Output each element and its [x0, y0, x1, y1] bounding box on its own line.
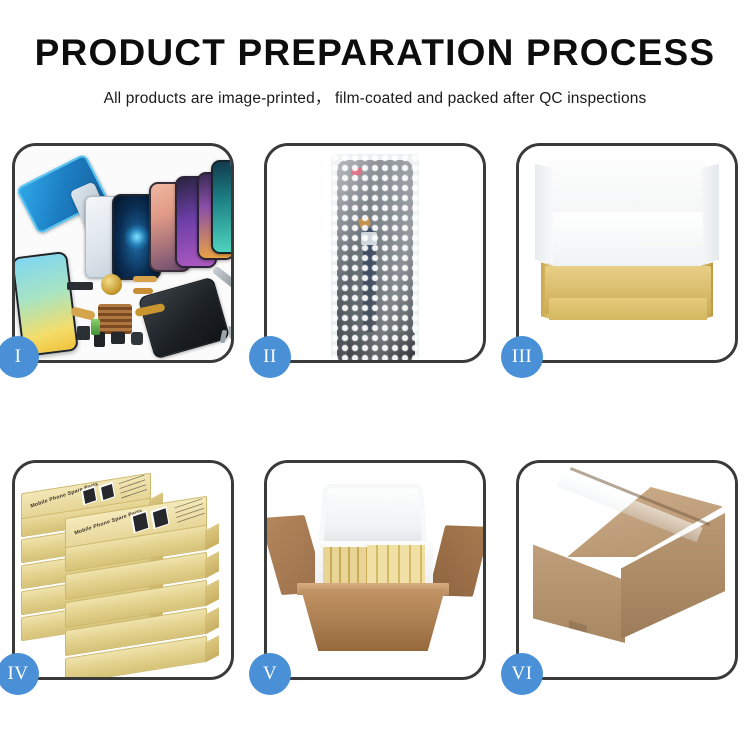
step-6-photo [519, 463, 735, 677]
foam-cooler-lid [318, 484, 428, 548]
ic-chip-part-3 [131, 332, 143, 345]
lcd-assembly [337, 160, 413, 360]
box-spec-lines-front [174, 498, 205, 526]
flex-cable-part-2 [133, 288, 153, 294]
lcd-connector [361, 232, 377, 245]
ic-chip-part-1 [77, 326, 90, 340]
process-step-grid: I II [12, 143, 738, 680]
step-4-photo: Mobile Phone Spare Parts Mobile Phone Sp… [15, 463, 231, 677]
box-window-back-1 [81, 486, 98, 506]
step-badge-3: III [501, 336, 543, 378]
process-step-6[interactable]: VI [516, 460, 738, 680]
battery-part [91, 319, 100, 335]
step-2-photo [267, 146, 483, 360]
foam-insert [553, 212, 703, 274]
qc-sticker [351, 168, 362, 175]
process-step-3[interactable]: III [516, 143, 738, 363]
lcd-bottom-edge [347, 332, 415, 358]
step-1-photo [15, 146, 231, 360]
box-window-back-2 [99, 482, 116, 502]
speaker-part [67, 282, 93, 290]
process-step-5[interactable]: V [264, 460, 486, 680]
process-step-1[interactable]: I [12, 143, 234, 363]
connector-grid-part [98, 304, 132, 334]
gold-contact-1 [358, 217, 371, 229]
ic-chip-part-2 [111, 332, 125, 344]
phone-screen-teal [211, 160, 231, 254]
step-5-photo [267, 463, 483, 677]
charging-coil-part [101, 274, 122, 295]
step-badge-5: V [249, 653, 291, 695]
step-badge-6: VI [501, 653, 543, 695]
box-spec-lines-back [119, 475, 148, 501]
process-step-2[interactable]: II [264, 143, 486, 363]
bubble-wrap-bag [331, 154, 419, 360]
gold-tray-front [549, 298, 707, 320]
open-shipping-carton [301, 589, 445, 651]
flex-cable-part-1 [133, 276, 157, 282]
step-badge-1: I [0, 336, 39, 378]
step-3-photo [519, 146, 735, 360]
carton-handle-notch-top [569, 620, 587, 642]
page-title: PRODUCT PREPARATION PROCESS [0, 34, 750, 73]
box-window-front-1 [130, 510, 149, 533]
step-badge-2: II [249, 336, 291, 378]
screw-part-2 [228, 326, 231, 340]
step-badge-4: IV [0, 653, 39, 695]
page-header: PRODUCT PREPARATION PROCESS All products… [0, 0, 750, 108]
process-step-4[interactable]: Mobile Phone Spare Parts Mobile Phone Sp… [12, 460, 234, 680]
box-window-front-2 [150, 506, 169, 529]
page-subtitle: All products are image-printed， film-coa… [0, 86, 750, 108]
